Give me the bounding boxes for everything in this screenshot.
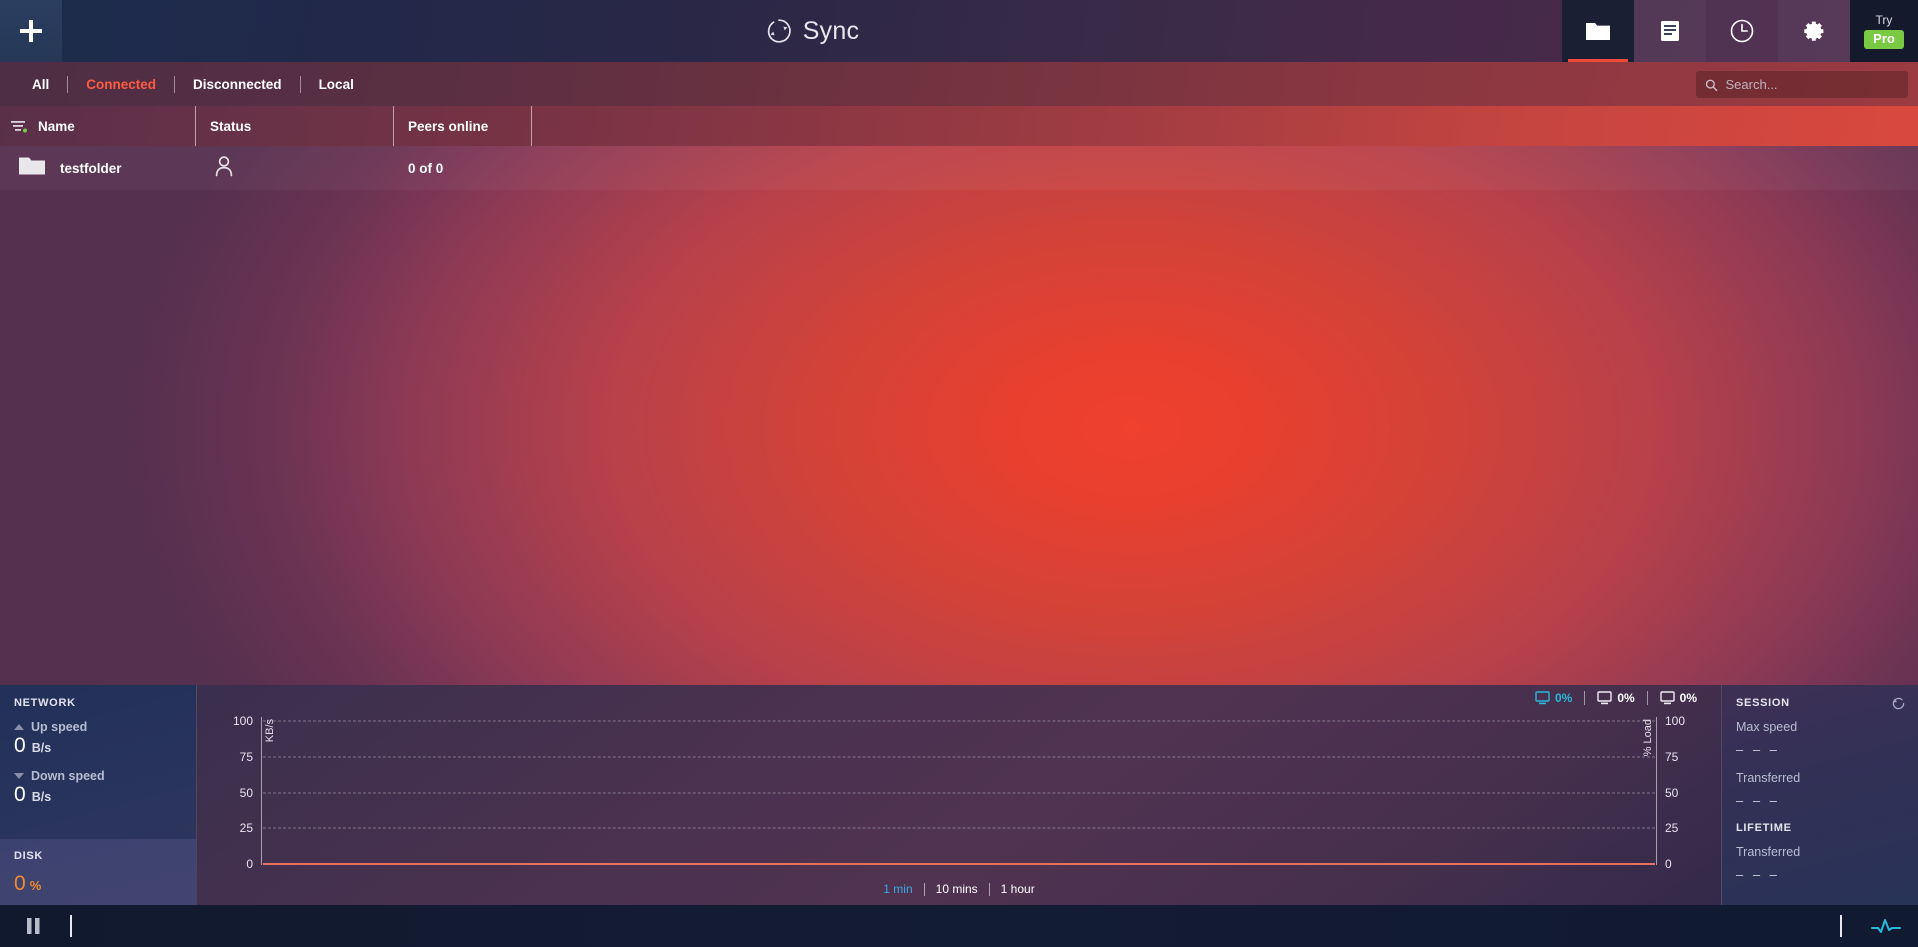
- pause-icon: [24, 916, 42, 936]
- y2-tick: 75: [1657, 750, 1713, 764]
- app-logo: Sync: [62, 0, 1562, 62]
- filter-disconnected[interactable]: Disconnected: [175, 77, 300, 92]
- disk-panel: DISK 0 %: [0, 839, 196, 905]
- up-speed-label: Up speed: [14, 720, 182, 734]
- filter-sort-icon[interactable]: [10, 119, 28, 133]
- folder-name: testfolder: [60, 161, 122, 176]
- chart-axis-line-right: [1656, 717, 1657, 865]
- settings-gear-icon: [1801, 18, 1827, 44]
- chart-axis-line-left: [261, 717, 262, 865]
- lifetime-title: LIFETIME: [1736, 822, 1904, 834]
- app-header: Sync: [0, 0, 1918, 62]
- monitor-icon: [1597, 691, 1612, 705]
- lifetime-transferred-value: – – –: [1736, 867, 1904, 882]
- column-header-status[interactable]: Status: [196, 106, 394, 146]
- column-header-peers[interactable]: Peers online: [394, 106, 532, 146]
- bottom-divider: [70, 915, 72, 937]
- y-tick: 0: [205, 857, 261, 871]
- filter-connected[interactable]: Connected: [68, 77, 174, 92]
- lifetime-transferred-label: Transferred: [1736, 845, 1904, 859]
- pause-button[interactable]: [12, 905, 54, 947]
- speed-chart: 0% 0% 0%: [196, 685, 1722, 905]
- pro-badge: Pro: [1864, 30, 1904, 49]
- folders-icon: [1585, 20, 1611, 42]
- y2-tick: 0: [1657, 857, 1713, 871]
- reset-icon[interactable]: [1891, 696, 1906, 716]
- column-header-name[interactable]: Name: [0, 106, 196, 146]
- transfers-icon: [1658, 19, 1682, 43]
- load-indicator-2-value: 0%: [1617, 691, 1634, 705]
- row-cell-name: testfolder: [0, 146, 196, 190]
- try-label: Try: [1876, 13, 1893, 27]
- filter-all[interactable]: All: [14, 77, 67, 92]
- disk-title: DISK: [14, 850, 182, 862]
- down-speed-value: 0 B/s: [14, 784, 182, 805]
- bottom-status-bar: [0, 905, 1918, 947]
- monitor-icon: [1660, 691, 1675, 705]
- folder-table-header: Name Status Peers online: [0, 106, 1918, 146]
- gridline: [263, 828, 1655, 829]
- filter-bar: All Connected Disconnected Local: [0, 62, 1918, 106]
- session-panel: SESSION Max speed – – – Transferred – – …: [1722, 685, 1918, 905]
- search-icon: [1705, 78, 1718, 92]
- row-cell-peers: 0 of 0: [394, 146, 532, 190]
- up-speed-value: 0 B/s: [14, 735, 182, 756]
- filter-tabs: All Connected Disconnected Local: [0, 76, 372, 93]
- add-folder-button[interactable]: [0, 0, 62, 62]
- session-transferred-value: – – –: [1736, 793, 1904, 808]
- chart-y-axis-left: 100 75 50 25 0: [205, 713, 261, 869]
- gridline: [263, 792, 1655, 793]
- plus-icon: [18, 18, 44, 44]
- tab-history[interactable]: [1706, 0, 1778, 62]
- load-indicator-3-value: 0%: [1680, 691, 1697, 705]
- session-max-speed-value: – – –: [1736, 742, 1904, 757]
- peers-online-value: 0 of 0: [408, 161, 443, 176]
- folder-icon: [18, 155, 46, 182]
- activity-graph-icon: [1871, 916, 1901, 936]
- sync-circle-icon: [765, 17, 793, 45]
- y-tick: 50: [205, 786, 261, 800]
- network-title: NETWORK: [14, 697, 182, 709]
- try-pro-button[interactable]: Try Pro: [1850, 0, 1918, 62]
- column-header-name-label: Name: [38, 119, 75, 134]
- monitor-icon: [1535, 691, 1550, 705]
- session-max-speed-label: Max speed: [1736, 720, 1904, 734]
- y2-tick: 25: [1657, 821, 1713, 835]
- y-tick: 75: [205, 750, 261, 764]
- arrow-down-icon: [14, 773, 24, 779]
- person-icon: [214, 155, 234, 182]
- gridline: [263, 756, 1655, 757]
- session-title: SESSION: [1736, 697, 1904, 709]
- app-title: Sync: [803, 17, 859, 46]
- time-range-selector: 1 min 10 mins 1 hour: [197, 882, 1721, 896]
- load-indicator-group: 0% 0% 0%: [1523, 691, 1709, 705]
- search-input[interactable]: [1726, 77, 1899, 92]
- chart-series-speed-line: [263, 863, 1655, 865]
- down-speed-unit: B/s: [32, 790, 51, 804]
- down-speed-label: Down speed: [14, 769, 182, 783]
- sync-app-window: Sync: [0, 0, 1918, 947]
- filter-local[interactable]: Local: [301, 77, 372, 92]
- bottom-divider: [1840, 915, 1842, 937]
- y2-tick: 50: [1657, 786, 1713, 800]
- range-1hour[interactable]: 1 hour: [990, 882, 1046, 896]
- load-indicator-2[interactable]: 0%: [1585, 691, 1646, 705]
- load-indicator-3[interactable]: 0%: [1648, 691, 1709, 705]
- column-header-status-label: Status: [210, 119, 251, 134]
- session-transferred-label: Transferred: [1736, 771, 1904, 785]
- down-speed-label-text: Down speed: [31, 769, 105, 783]
- chart-y-axis-right: 100 75 50 25 0: [1657, 713, 1713, 869]
- activity-button[interactable]: [1864, 905, 1908, 947]
- search-box[interactable]: [1696, 71, 1908, 98]
- gridline: [263, 720, 1655, 721]
- header-icon-group: Try Pro: [1562, 0, 1918, 62]
- arrow-up-icon: [14, 724, 24, 730]
- down-speed-number: 0: [14, 784, 26, 805]
- chart-gridlines: [263, 713, 1655, 869]
- network-panel: NETWORK Up speed 0 B/s Down speed 0 B/s: [0, 685, 196, 905]
- tab-folders[interactable]: [1562, 0, 1634, 62]
- range-10mins[interactable]: 10 mins: [925, 882, 989, 896]
- stats-panel: NETWORK Up speed 0 B/s Down speed 0 B/s: [0, 685, 1918, 905]
- history-icon: [1729, 18, 1755, 44]
- y2-tick: 100: [1657, 714, 1713, 728]
- tab-settings[interactable]: [1778, 0, 1850, 62]
- up-speed-number: 0: [14, 735, 26, 756]
- column-header-peers-label: Peers online: [408, 119, 488, 134]
- tab-transfers[interactable]: [1634, 0, 1706, 62]
- y-tick: 100: [205, 714, 261, 728]
- range-1min[interactable]: 1 min: [872, 882, 923, 896]
- up-speed-label-text: Up speed: [31, 720, 87, 734]
- table-row[interactable]: testfolder 0 of 0: [0, 146, 1918, 190]
- chart-plot-area: 100 75 50 25 0 KB/s 100 75 50 25 0 % Loa…: [197, 713, 1721, 869]
- column-header-filler: [532, 106, 1918, 146]
- y-tick: 25: [205, 821, 261, 835]
- load-indicator-1[interactable]: 0%: [1523, 691, 1584, 705]
- load-indicator-1-value: 0%: [1555, 691, 1572, 705]
- up-speed-unit: B/s: [32, 741, 51, 755]
- row-cell-status: [196, 146, 394, 190]
- disk-number: 0: [14, 873, 26, 894]
- disk-usage-value: 0 %: [14, 873, 182, 894]
- disk-unit: %: [30, 878, 42, 893]
